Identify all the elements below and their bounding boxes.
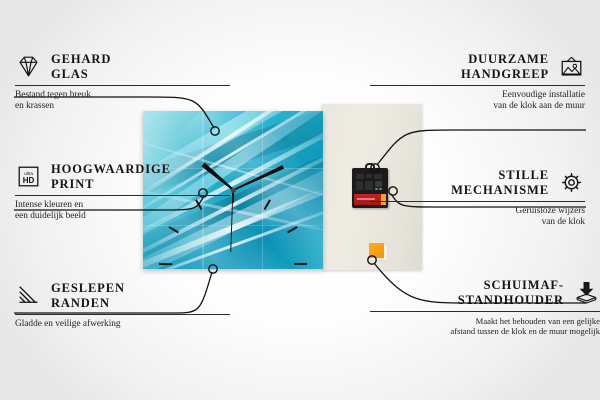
feature-title: GESLEPEN RANDEN (51, 281, 125, 310)
feature-stille-mechanisme: STILLE MECHANISME Geruisloze wijzers van… (370, 168, 585, 228)
feature-title: DUURZAME HANDGREEP (461, 52, 549, 81)
feature-desc: Gladde en veilige afwerking (15, 319, 230, 330)
feature-hoogwaardige-print: ultra HD HOOGWAARDIGE PRINT Intense kleu… (15, 162, 230, 222)
feature-geslepen-randen: GESLEPEN RANDEN Gladde en veilige afwerk… (15, 281, 230, 330)
feature-title: STILLE MECHANISME (451, 168, 549, 197)
beveled-edges-icon (15, 283, 42, 308)
feature-gehard-glas: GEHARD GLAS Bestand tegen breuk en krass… (15, 52, 230, 112)
feature-duurzame-handgreep: DUURZAME HANDGREEP Eenvoudige installati… (370, 52, 585, 112)
feature-desc: Bestand tegen breuk en krassen (15, 90, 230, 112)
divider (370, 85, 585, 86)
divider (370, 311, 600, 312)
svg-text:HD: HD (23, 176, 35, 185)
foam-spacer-pad (369, 243, 384, 258)
feature-desc: Geruisloze wijzers van de klok (370, 206, 585, 228)
feature-schuimaf-standhouder: SCHUIMAF- STANDHOUDER Maakt het behouden… (370, 278, 600, 337)
feature-desc: Intense kleuren en een duidelijk beeld (15, 200, 230, 222)
divider (15, 314, 230, 315)
feature-desc: Maakt het behouden van een gelijke afsta… (370, 316, 600, 337)
feature-title: SCHUIMAF- STANDHOUDER (458, 278, 564, 307)
divider (15, 195, 230, 196)
ultra-hd-icon: ultra HD (15, 164, 42, 189)
divider (15, 85, 230, 86)
press-down-pad-icon (573, 280, 600, 305)
product-feature-infographic: GEHARD GLAS Bestand tegen breuk en krass… (0, 0, 600, 400)
hanging-frame-icon (558, 54, 585, 79)
feature-desc: Eenvoudige installatie van de klok aan d… (370, 90, 585, 112)
diamond-icon (15, 54, 42, 79)
feature-title: HOOGWAARDIGE PRINT (51, 162, 171, 191)
divider (370, 201, 585, 202)
clock-center-pivot (231, 188, 236, 193)
gear-icon (558, 170, 585, 195)
feature-title: GEHARD GLAS (51, 52, 111, 81)
